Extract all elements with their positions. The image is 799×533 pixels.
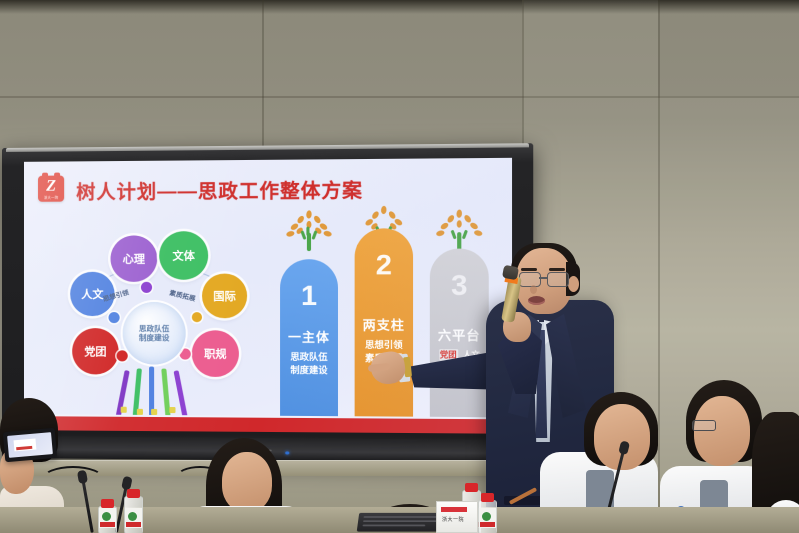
bottle-label — [479, 508, 496, 528]
phone-screen-preview — [14, 438, 37, 451]
bottle-label-stripe — [480, 522, 495, 527]
keyboard[interactable] — [357, 513, 446, 532]
placard-text: 浙大一院 — [442, 516, 464, 523]
center-label-line1: 思政队伍 — [139, 324, 169, 334]
accent-dot — [117, 350, 128, 361]
accent-dot — [180, 348, 191, 359]
placard-accent-bar — [441, 507, 467, 512]
microphone-head — [502, 265, 519, 280]
tree-icon — [280, 206, 338, 251]
bottle-cap — [481, 493, 494, 502]
audience-eyeglasses — [692, 420, 716, 431]
center-label-line2: 制度建设 — [139, 333, 169, 343]
pillar-heading: 一主体 — [288, 326, 330, 345]
accent-dot — [141, 282, 152, 293]
bottle-label-mark — [102, 512, 111, 521]
bottle-label — [125, 508, 142, 528]
bottle-cap — [101, 499, 114, 508]
bottle-label-stripe — [100, 522, 115, 527]
interactive-display[interactable]: Z 浙大一院 树人计划——思政工作整体方案 心理 文体 人文 — [2, 143, 533, 463]
phone-screen — [7, 432, 53, 458]
bubble-guoji: 国际 — [202, 274, 247, 319]
suit-lapel-right — [546, 314, 586, 418]
three-pillars-chart: 1 一主体 思政队伍 制度建设 2 两支柱 思想引领 素质拓展 3 六平台 — [276, 205, 497, 429]
pillar-3: 3 六平台 党团 人文 文体 国际 心理 职规 — [430, 248, 489, 429]
bottle-cap — [127, 489, 140, 498]
water-bottle[interactable] — [478, 500, 497, 533]
pillar-number: 3 — [451, 271, 467, 300]
trunk-stripe — [174, 370, 188, 419]
pillar-1: 1 一主体 思政队伍 制度建设 — [280, 259, 338, 428]
audience-head — [222, 452, 272, 512]
bubble-center: 思政队伍 制度建设 — [123, 302, 186, 365]
audience-head — [694, 396, 750, 466]
bottle-label-mark — [128, 512, 137, 521]
name-placard: 浙大一院 — [436, 501, 478, 533]
pillar-heading: 两支柱 — [363, 314, 405, 333]
presentation-slide: Z 浙大一院 树人计划——思政工作整体方案 心理 文体 人文 — [24, 158, 512, 434]
bubble-label: 国际 — [213, 288, 236, 304]
presenter-mouth-speaking — [528, 296, 545, 305]
logo-subtext: 浙大一院 — [38, 195, 64, 200]
water-bottle[interactable] — [124, 496, 143, 533]
logo-letter: Z — [38, 178, 64, 196]
eyebrow-right — [549, 268, 565, 271]
bubble-label: 职规 — [204, 345, 227, 361]
lens-right — [547, 272, 569, 287]
bubble-label: 人文 — [81, 286, 103, 302]
tree-icon — [430, 205, 489, 250]
bubble-dangtuan: 党团 — [72, 328, 118, 374]
bottle-label — [99, 508, 116, 528]
pillar-subline: 制度建设 — [290, 364, 327, 377]
ceiling-shadow — [0, 0, 799, 14]
bottle-label-mark — [482, 512, 491, 521]
accent-dot — [109, 312, 120, 323]
trunk-badge — [121, 407, 127, 413]
trunk-badge — [169, 407, 175, 413]
eyebrow-left — [521, 268, 537, 271]
glasses-bridge — [539, 277, 547, 279]
bottle-label-stripe — [126, 522, 141, 527]
water-bottle[interactable] — [98, 506, 117, 533]
pillar-heading: 六平台 — [438, 325, 481, 345]
bubble-label: 文体 — [172, 247, 194, 263]
screenshot-root: Z 浙大一院 树人计划——思政工作整体方案 心理 文体 人文 — [0, 0, 799, 533]
slide-title: 树人计划——思政工作整体方案 — [76, 175, 363, 204]
bubble-tree-diagram: 心理 文体 人文 国际 党团 职规 — [64, 227, 268, 420]
power-led-indicator — [285, 451, 289, 454]
bubble-zhigui: 职规 — [192, 330, 239, 377]
bubble-xinli: 心理 — [111, 235, 158, 281]
pillar-subline: 思想引领 — [365, 339, 403, 352]
bubble-wenti: 文体 — [159, 231, 208, 280]
bottle-cap — [465, 483, 478, 492]
pillar-2: 2 两支柱 思想引领 素质拓展 — [355, 228, 413, 429]
lens-left — [519, 272, 541, 287]
smartphone-recording[interactable] — [3, 428, 57, 462]
pillar-subline: 思政队伍 — [290, 351, 327, 364]
bubble-label: 心理 — [123, 251, 145, 267]
organization-logo: Z 浙大一院 — [38, 176, 64, 202]
phone-preview-redbar — [16, 446, 32, 450]
pillar-number: 1 — [301, 282, 317, 311]
presenter-nose — [530, 285, 537, 294]
bubble-label: 党团 — [84, 343, 106, 359]
accent-dot — [192, 312, 202, 322]
eyeglasses — [519, 272, 571, 285]
pillar-number: 2 — [376, 251, 392, 280]
